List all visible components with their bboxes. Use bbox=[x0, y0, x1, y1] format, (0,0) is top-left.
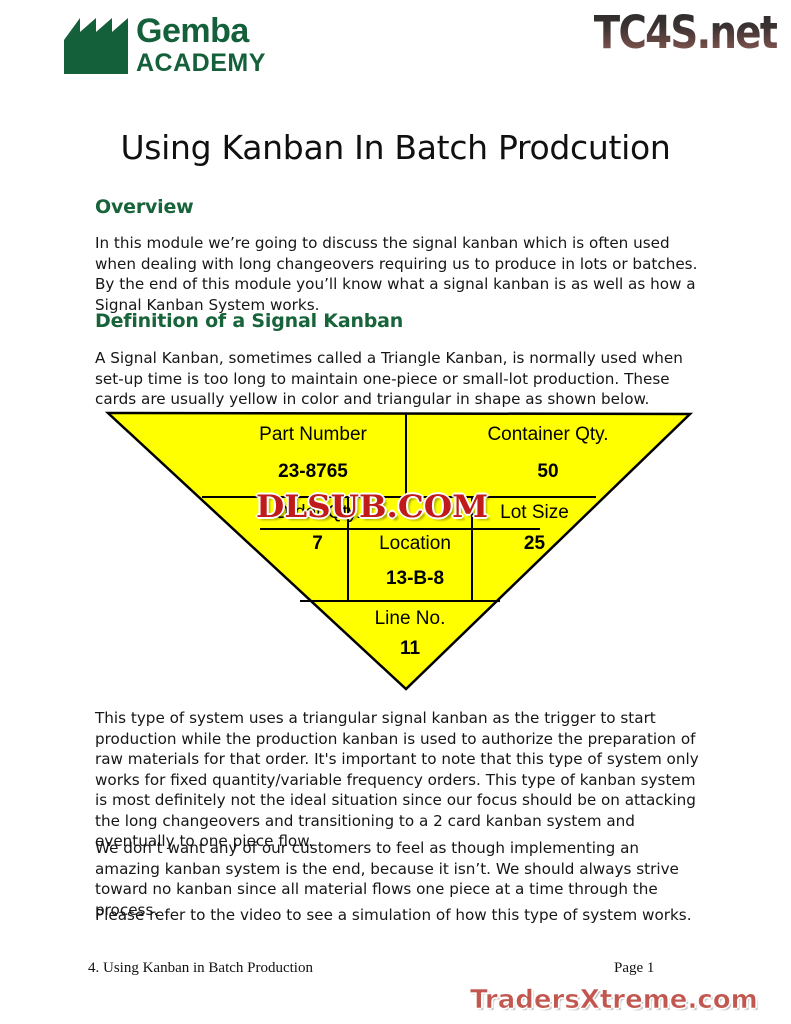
tc4s-watermark: TC4S.net bbox=[594, 6, 777, 59]
field-value-part-number: 23-8765 bbox=[218, 461, 408, 483]
field-label-line-no: Line No. bbox=[345, 608, 475, 630]
field-value-lot-size: 25 bbox=[472, 533, 597, 555]
section-heading-overview: Overview bbox=[95, 196, 707, 218]
field-value-line-no: 11 bbox=[345, 638, 475, 660]
signal-kanban-figure: Part Number 23-8765 Container Qty. 50 Or… bbox=[100, 405, 700, 700]
section-paragraph-overview: In this module we’re going to discuss th… bbox=[95, 233, 707, 315]
logo-text-gemba: Gemba bbox=[136, 14, 266, 48]
dlsub-watermark: DLSUB.COM bbox=[256, 489, 488, 525]
field-value-container-qty: 50 bbox=[448, 461, 648, 483]
document-page: Gemba ACADEMY TC4S.net Using Kanban In B… bbox=[0, 0, 791, 1024]
field-value-location: 13-B-8 bbox=[350, 568, 480, 590]
logo-text-academy: ACADEMY bbox=[136, 51, 266, 76]
field-label-location: Location bbox=[350, 533, 480, 555]
footer-page-number: Page 1 bbox=[614, 960, 654, 977]
page-title: Using Kanban In Batch Prodcution bbox=[0, 128, 791, 167]
field-label-part-number: Part Number bbox=[218, 424, 408, 446]
paragraph-system-description: This type of system uses a triangular si… bbox=[95, 708, 707, 852]
paragraph-video-reference: Please refer to the video to see a simul… bbox=[95, 905, 707, 926]
page-header: Gemba ACADEMY TC4S.net bbox=[0, 0, 791, 105]
section-paragraph-definition: A Signal Kanban, sometimes called a Tria… bbox=[95, 348, 707, 410]
field-label-lot-size: Lot Size bbox=[472, 502, 597, 524]
section-heading-definition: Definition of a Signal Kanban bbox=[95, 310, 707, 332]
field-label-container-qty: Container Qty. bbox=[448, 424, 648, 446]
footer-document-name: 4. Using Kanban in Batch Production bbox=[88, 960, 313, 977]
gemba-academy-logo: Gemba ACADEMY bbox=[64, 14, 266, 76]
tradersxtreme-watermark: TradersXtreme.com bbox=[470, 985, 758, 1015]
logo-wordmark: Gemba ACADEMY bbox=[136, 14, 266, 76]
factory-sawtooth-icon bbox=[64, 18, 128, 74]
